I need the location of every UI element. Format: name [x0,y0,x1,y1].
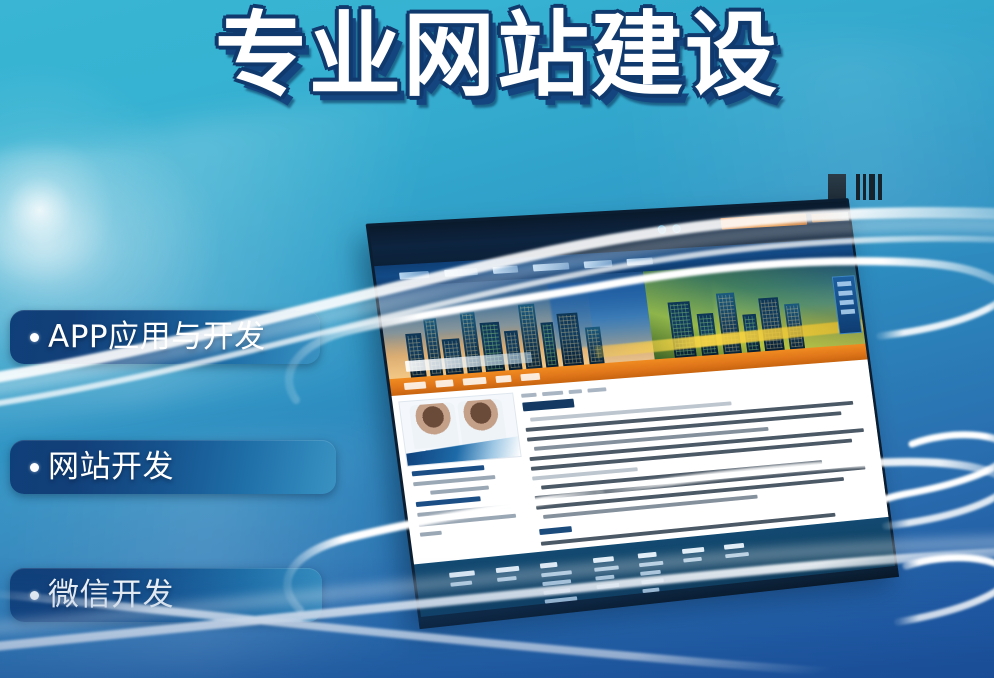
website-screen [366,198,898,620]
page-title: 专业网站建设 [0,6,994,105]
social-icon[interactable] [657,225,666,234]
bullet-bar-app[interactable]: APP应用与开发 [10,310,320,364]
nav-item[interactable] [626,257,653,265]
footer-link[interactable] [725,552,749,558]
subnav-item[interactable] [520,373,540,381]
footer-link[interactable] [496,566,520,573]
side-panel-line [839,300,854,306]
sidebar-line [418,514,516,527]
nav-item[interactable] [584,259,613,267]
footer-link[interactable] [594,565,619,571]
topbar-social-icons[interactable] [657,224,681,234]
footer-link[interactable] [449,570,475,578]
footer-link[interactable] [641,578,664,584]
footer-link[interactable] [682,547,705,554]
barcode-spacer [849,174,853,200]
barcode-bar [878,174,882,200]
side-panel-line [837,281,852,287]
footer-link[interactable] [639,561,664,567]
sidebar-contact-list [407,457,531,537]
bullet-dot-icon [30,591,39,600]
subnav-item[interactable] [404,381,427,390]
bullet-dot-icon [30,333,39,342]
footer-link[interactable] [595,575,614,581]
footer-link[interactable] [497,576,517,582]
nav-item[interactable] [444,268,478,277]
social-icon[interactable] [672,224,681,233]
sidebar-line [413,475,495,486]
sidebar-line [412,465,485,476]
article-section-title [539,526,572,535]
footer-link[interactable] [683,557,702,563]
side-panel-line [841,309,856,315]
sidebar-line [420,531,442,537]
barcode-bar [856,174,860,200]
bullet-bar-wechat[interactable]: 微信开发 [10,568,322,622]
footer-link[interactable] [596,583,619,589]
nav-item[interactable] [399,270,429,279]
barcode-block [828,174,846,200]
bullet-label: 网站开发 [48,452,174,483]
breadcrumb-item[interactable] [521,393,537,398]
bullet-bar-website[interactable]: 网站开发 [10,440,336,494]
footer-link[interactable] [638,552,657,559]
poster-canvas: 专业网站建设 [0,0,994,678]
barcode-bar [863,174,866,200]
agent-photo [409,402,460,449]
topbar-hotline-badge [720,213,807,229]
breadcrumb-item[interactable] [587,387,606,392]
breadcrumb-item[interactable] [568,389,582,394]
subnav-item[interactable] [495,375,511,383]
bullet-label: APP应用与开发 [48,322,266,353]
bullet-dot-icon [30,463,39,472]
footer-link[interactable] [543,588,570,595]
subnav-item[interactable] [463,377,487,386]
footer-link[interactable] [542,579,571,586]
footer-link[interactable] [724,543,744,550]
footer-link[interactable] [450,581,472,587]
footer-link[interactable] [540,562,558,569]
footer-link[interactable] [593,556,614,563]
barcode-icon [828,174,884,200]
footer-link[interactable] [640,570,661,576]
nav-item[interactable] [492,265,518,273]
barcode-bar [869,174,875,200]
ribbon-right-lower [898,558,994,622]
bullet-label: 微信开发 [48,580,174,611]
breadcrumb-item[interactable] [542,391,563,397]
topbar-secondary-badge [811,212,857,223]
article-title [522,399,574,412]
side-panel-line [838,290,853,296]
sidebar-line [430,486,489,495]
nav-item[interactable] [533,262,570,271]
subnav-item[interactable] [435,379,453,387]
footer-link[interactable] [541,570,572,577]
monitor-display [366,198,898,620]
footer-link[interactable] [642,587,659,593]
support-agents-card [398,393,521,467]
site-sidebar [398,393,534,564]
sidebar-line [416,496,481,507]
agent-photo [457,398,507,445]
